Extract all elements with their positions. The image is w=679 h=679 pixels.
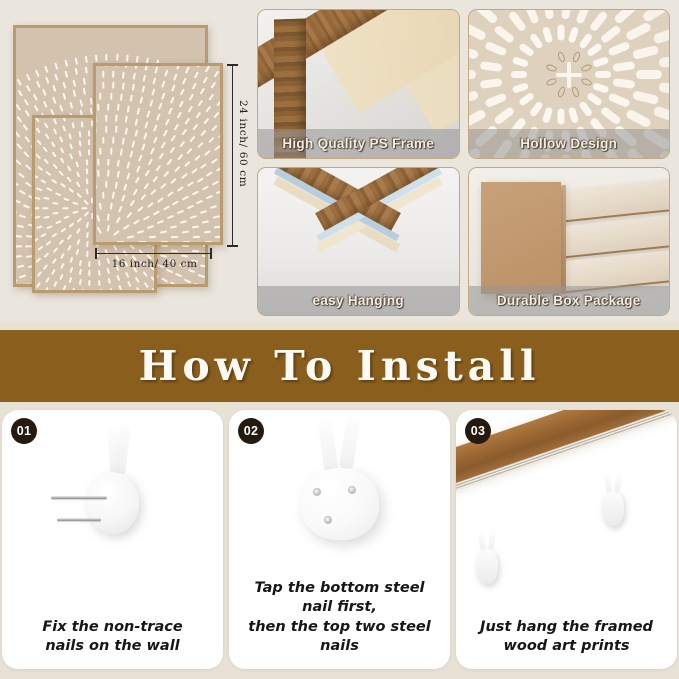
feature-panel-package: Durable Box Package bbox=[468, 167, 671, 317]
feature-panel-frame: High Quality PS Frame bbox=[257, 9, 460, 159]
install-steps: 01 Fix the non-tracenails on the wall 02 bbox=[0, 410, 679, 669]
feature-caption: Durable Box Package bbox=[469, 286, 670, 315]
step-caption: Fix the non-tracenails on the wall bbox=[2, 618, 223, 657]
wood-frame-edge bbox=[456, 410, 677, 493]
radial-dash-pattern bbox=[96, 66, 220, 242]
product-showcase-section: 24 inch/ 60 cm 16 inch/ 40 cm High Quali… bbox=[0, 0, 679, 322]
feature-panel-hanging: easy Hanging bbox=[257, 167, 460, 317]
height-dimension-label: 24 inch/ 60 cm bbox=[237, 100, 249, 187]
step-caption: Tap the bottom steel nail first,then the… bbox=[229, 579, 450, 657]
product-infographic: 24 inch/ 60 cm 16 inch/ 40 cm High Quali… bbox=[0, 0, 679, 679]
step-photo bbox=[2, 410, 223, 602]
framed-print-front bbox=[93, 63, 223, 245]
steel-nail-icon bbox=[51, 496, 107, 499]
install-step-03: 03 Just hang the framedwood art prints bbox=[456, 410, 677, 669]
step-caption: Just hang the framedwood art prints bbox=[456, 618, 677, 657]
rabbit-hook-icon bbox=[476, 548, 498, 584]
feature-panel-grid: High Quality PS Frame Hollow Design bbox=[253, 0, 679, 322]
install-step-02: 02 Tap the bottom steel nail first,then … bbox=[229, 410, 450, 669]
step-number-badge: 01 bbox=[11, 418, 37, 444]
feature-caption: easy Hanging bbox=[258, 286, 459, 315]
feature-caption: High Quality PS Frame bbox=[258, 129, 459, 158]
how-to-install-banner: How To Install bbox=[0, 330, 679, 402]
feature-caption: Hollow Design bbox=[469, 129, 670, 158]
install-step-01: 01 Fix the non-tracenails on the wall bbox=[2, 410, 223, 669]
width-dimension-line bbox=[95, 253, 212, 254]
steel-nail-icon bbox=[57, 518, 101, 521]
width-dimension-label: 16 inch/ 40 cm bbox=[92, 258, 217, 270]
steel-nail-icon bbox=[348, 486, 356, 494]
step-number-badge: 02 bbox=[238, 418, 264, 444]
banner-title: How To Install bbox=[139, 342, 541, 390]
step-photo bbox=[229, 410, 450, 602]
steel-nail-icon bbox=[324, 516, 332, 524]
height-dimension-line bbox=[232, 64, 233, 247]
step-number-badge: 03 bbox=[465, 418, 491, 444]
rabbit-hook-icon bbox=[602, 490, 624, 526]
feature-panel-hollow: Hollow Design bbox=[468, 9, 671, 159]
step-photo bbox=[456, 410, 677, 602]
hero-framed-prints: 24 inch/ 60 cm 16 inch/ 40 cm bbox=[0, 0, 253, 322]
steel-nail-icon bbox=[313, 488, 321, 496]
